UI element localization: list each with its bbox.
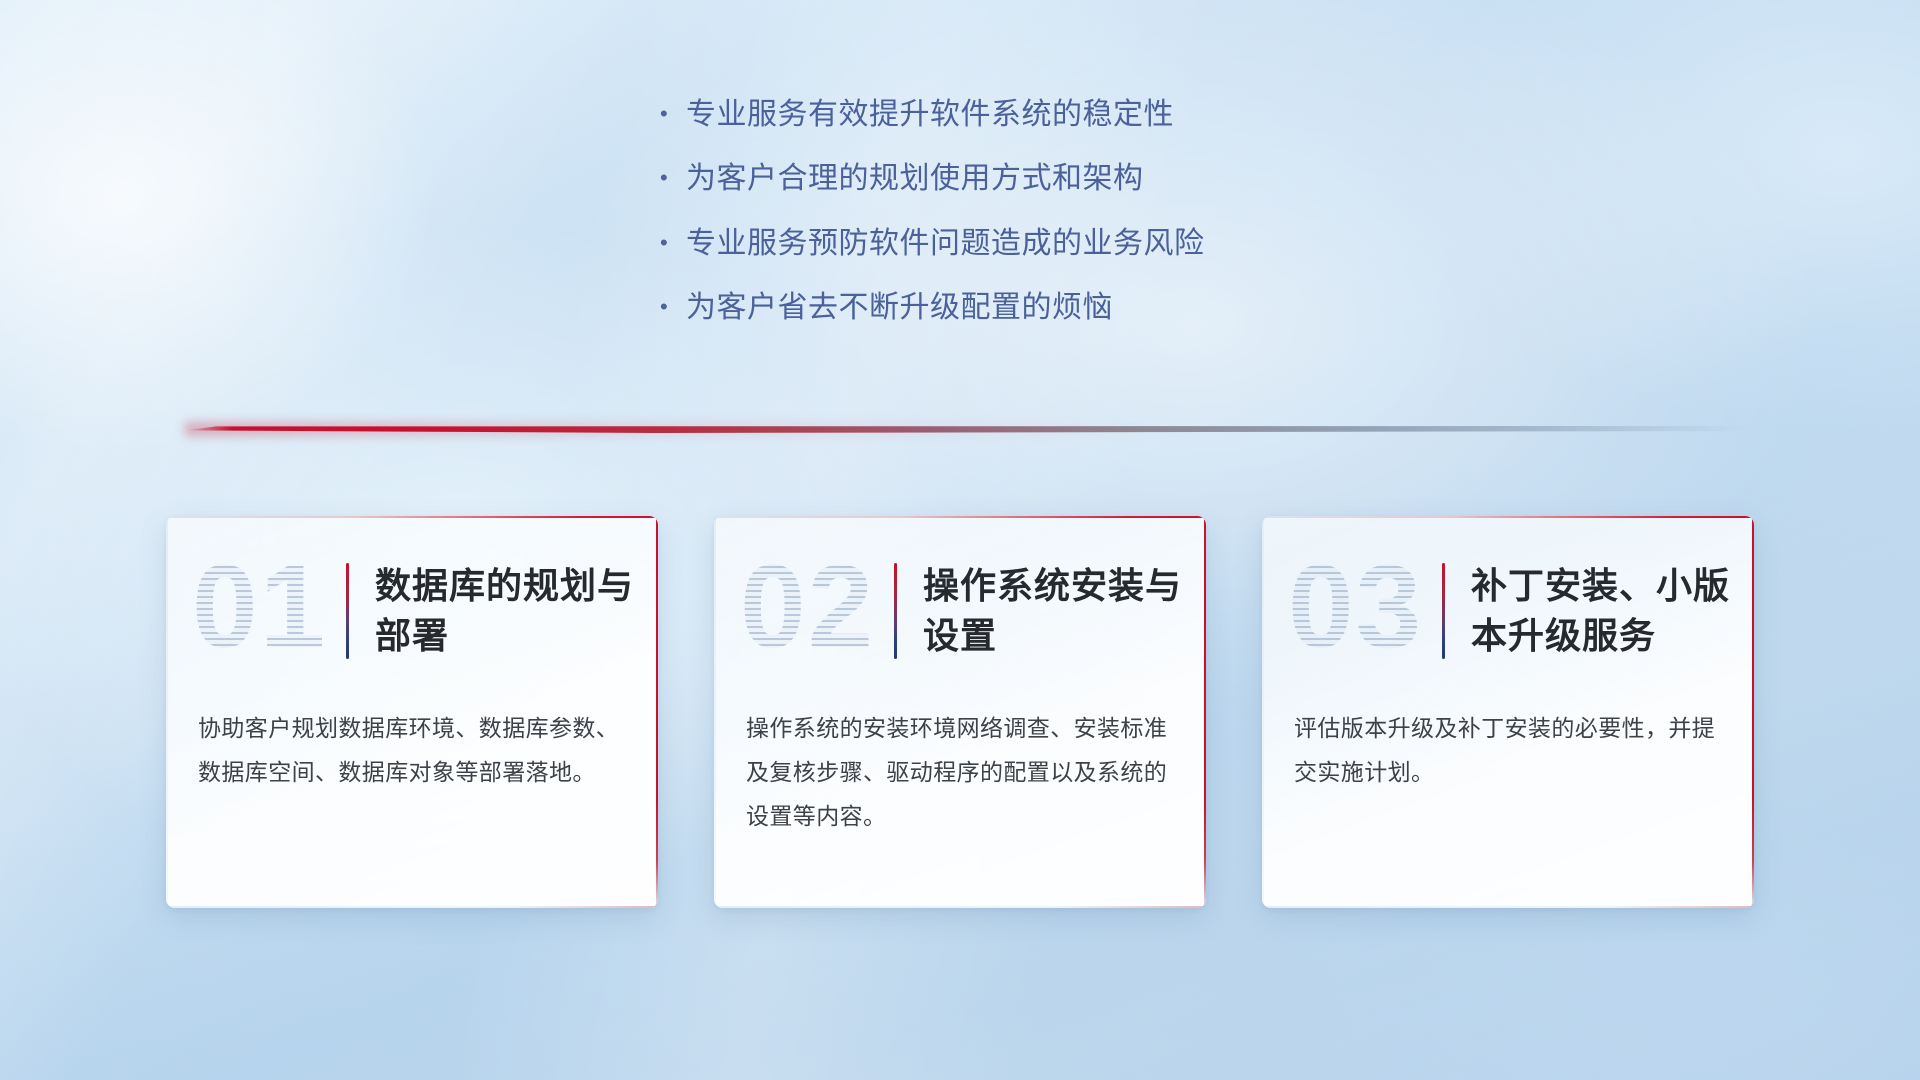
bullet-dot-icon: • [660, 296, 686, 318]
slide-canvas: • 专业服务有效提升软件系统的稳定性 • 为客户合理的规划使用方式和架构 • 专… [0, 0, 1920, 1080]
list-item: • 为客户合理的规划使用方式和架构 [660, 160, 1420, 198]
card-body-text: 操作系统的安装环境网络调查、安装标准及复核步骤、驱动程序的配置以及系统的设置等内… [714, 706, 1206, 838]
card-bottom-edge [1262, 906, 1754, 908]
card-title-separator [346, 563, 349, 659]
card-title: 操作系统安装与设置 [923, 561, 1206, 660]
card-header: 01 01 数据库的规划与部署 [166, 516, 658, 706]
bullet-text: 为客户合理的规划使用方式和架构 [686, 160, 1144, 198]
section-divider [185, 420, 1745, 442]
list-item: • 专业服务有效提升软件系统的稳定性 [660, 96, 1420, 134]
benefits-bullet-list: • 专业服务有效提升软件系统的稳定性 • 为客户合理的规划使用方式和架构 • 专… [660, 96, 1420, 354]
bullet-text: 专业服务有效提升软件系统的稳定性 [686, 96, 1174, 134]
service-card[interactable]: 03 03 补丁安装、小版本升级服务 评估版本升级及补丁安装的必要性，并提交实施… [1262, 516, 1754, 908]
service-card[interactable]: 01 01 数据库的规划与部署 协助客户规划数据库环境、数据库参数、数据库空间、… [166, 516, 658, 908]
list-item: • 为客户省去不断升级配置的烦恼 [660, 289, 1420, 327]
service-card-list: 01 01 数据库的规划与部署 协助客户规划数据库环境、数据库参数、数据库空间、… [0, 516, 1920, 936]
card-title: 补丁安装、小版本升级服务 [1471, 561, 1754, 660]
card-body-text: 评估版本升级及补丁安装的必要性，并提交实施计划。 [1262, 706, 1754, 794]
card-body-text: 协助客户规划数据库环境、数据库参数、数据库空间、数据库对象等部署落地。 [166, 706, 658, 794]
card-title-separator [894, 563, 897, 659]
card-number: 03 [1288, 548, 1438, 666]
bullet-dot-icon: • [660, 103, 686, 125]
bullet-text: 专业服务预防软件问题造成的业务风险 [686, 225, 1205, 263]
card-bottom-edge [714, 906, 1206, 908]
card-number: 02 [740, 548, 890, 666]
service-card[interactable]: 02 02 操作系统安装与设置 操作系统的安装环境网络调查、安装标准及复核步骤、… [714, 516, 1206, 908]
card-bottom-edge [166, 906, 658, 908]
card-header: 03 03 补丁安装、小版本升级服务 [1262, 516, 1754, 706]
list-item: • 专业服务预防软件问题造成的业务风险 [660, 225, 1420, 263]
bullet-dot-icon: • [660, 167, 686, 189]
card-header: 02 02 操作系统安装与设置 [714, 516, 1206, 706]
card-title-separator [1442, 563, 1445, 659]
card-number: 01 [192, 548, 342, 666]
bullet-dot-icon: • [660, 232, 686, 254]
card-title: 数据库的规划与部署 [375, 561, 658, 660]
bullet-text: 为客户省去不断升级配置的烦恼 [686, 289, 1113, 327]
